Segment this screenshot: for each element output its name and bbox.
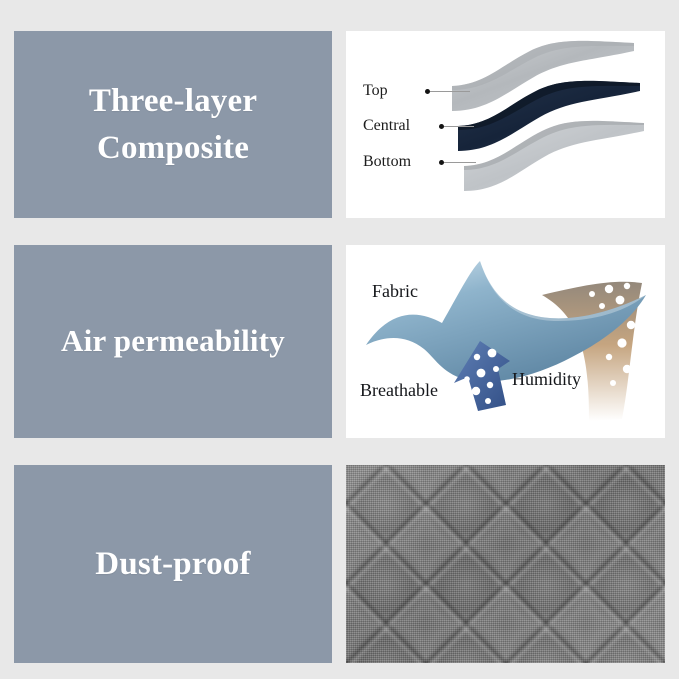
feature-image-panel-dust-proof	[346, 465, 665, 663]
breathability-label-humidity: Humidity	[512, 369, 581, 390]
feature-image-panel-air-permeability: Fabric Breathable Humidity	[346, 245, 665, 438]
feature-caption-dust-proof: Dust-proof	[95, 541, 250, 588]
feature-caption-air-permeability: Air permeability	[61, 319, 285, 363]
feature-caption-panel-air-permeability: Air permeability	[14, 245, 332, 438]
product-feature-infographic: Three-layer Composite	[0, 0, 679, 679]
layered-fabric-diagram	[346, 31, 665, 218]
breathability-label-fabric: Fabric	[372, 281, 418, 302]
feature-image-panel-three-layer: Top Central Bottom	[346, 31, 665, 218]
feature-caption-panel-three-layer: Three-layer Composite	[14, 31, 332, 218]
breathability-diagram	[346, 245, 665, 438]
breathability-label-breathable: Breathable	[360, 380, 438, 401]
feature-caption-three-layer: Three-layer Composite	[89, 78, 257, 172]
feature-caption-panel-dust-proof: Dust-proof	[14, 465, 332, 663]
quilted-fabric-texture	[346, 465, 665, 663]
